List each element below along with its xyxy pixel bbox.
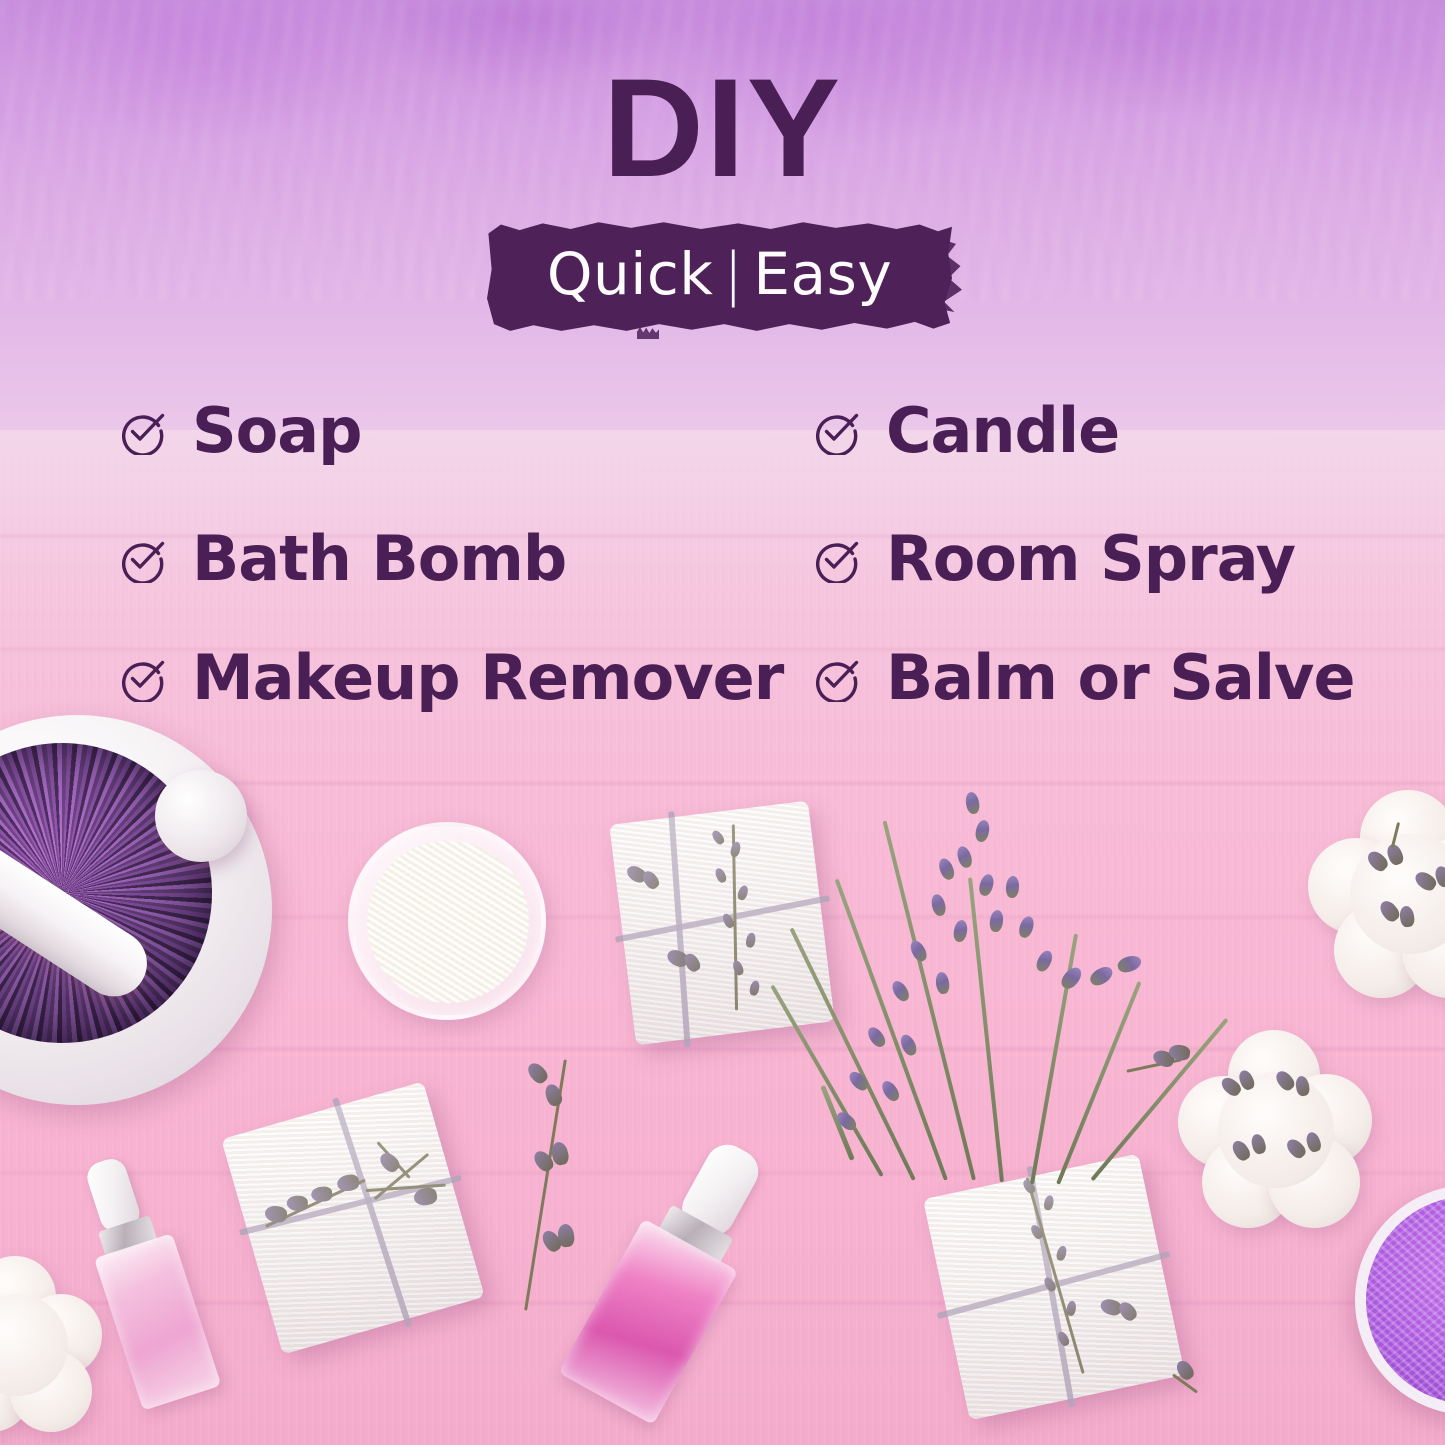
check-circle-icon	[812, 654, 860, 702]
checklist-item-makeup-remover[interactable]: Makeup Remover	[118, 647, 783, 709]
checklist-item-bath-bomb[interactable]: Bath Bomb	[118, 528, 566, 590]
checklist-item-room-spray[interactable]: Room Spray	[812, 528, 1295, 590]
check-circle-icon	[118, 535, 166, 583]
diy-checklist: Soap Bath Bomb Makeup Remover	[0, 392, 1445, 722]
check-circle-icon	[118, 407, 166, 455]
checklist-item-label: Soap	[192, 400, 361, 462]
checklist-item-label: Room Spray	[886, 528, 1295, 590]
check-circle-icon	[118, 654, 166, 702]
check-circle-icon	[812, 535, 860, 583]
diy-lavender-poster: DIY Quick | Easy Soap	[0, 0, 1445, 1445]
banner-text: Quick | Easy	[487, 220, 952, 332]
banner-separator: |	[713, 240, 753, 308]
banner-easy-label: Easy	[753, 240, 892, 308]
checklist-item-candle[interactable]: Candle	[812, 400, 1119, 462]
checklist-item-soap[interactable]: Soap	[118, 400, 361, 462]
banner-quick-label: Quick	[547, 240, 714, 308]
checklist-item-label: Bath Bomb	[192, 528, 566, 590]
checklist-item-label: Candle	[886, 400, 1119, 462]
checklist-item-label: Makeup Remover	[192, 647, 783, 709]
checklist-item-balm-or-salve[interactable]: Balm or Salve	[812, 647, 1355, 709]
poster-text-layer: DIY Quick | Easy Soap	[0, 0, 1445, 1445]
page-title: DIY	[0, 58, 1445, 198]
check-circle-icon	[812, 407, 860, 455]
quick-easy-banner: Quick | Easy	[487, 220, 952, 332]
checklist-item-label: Balm or Salve	[886, 647, 1355, 709]
